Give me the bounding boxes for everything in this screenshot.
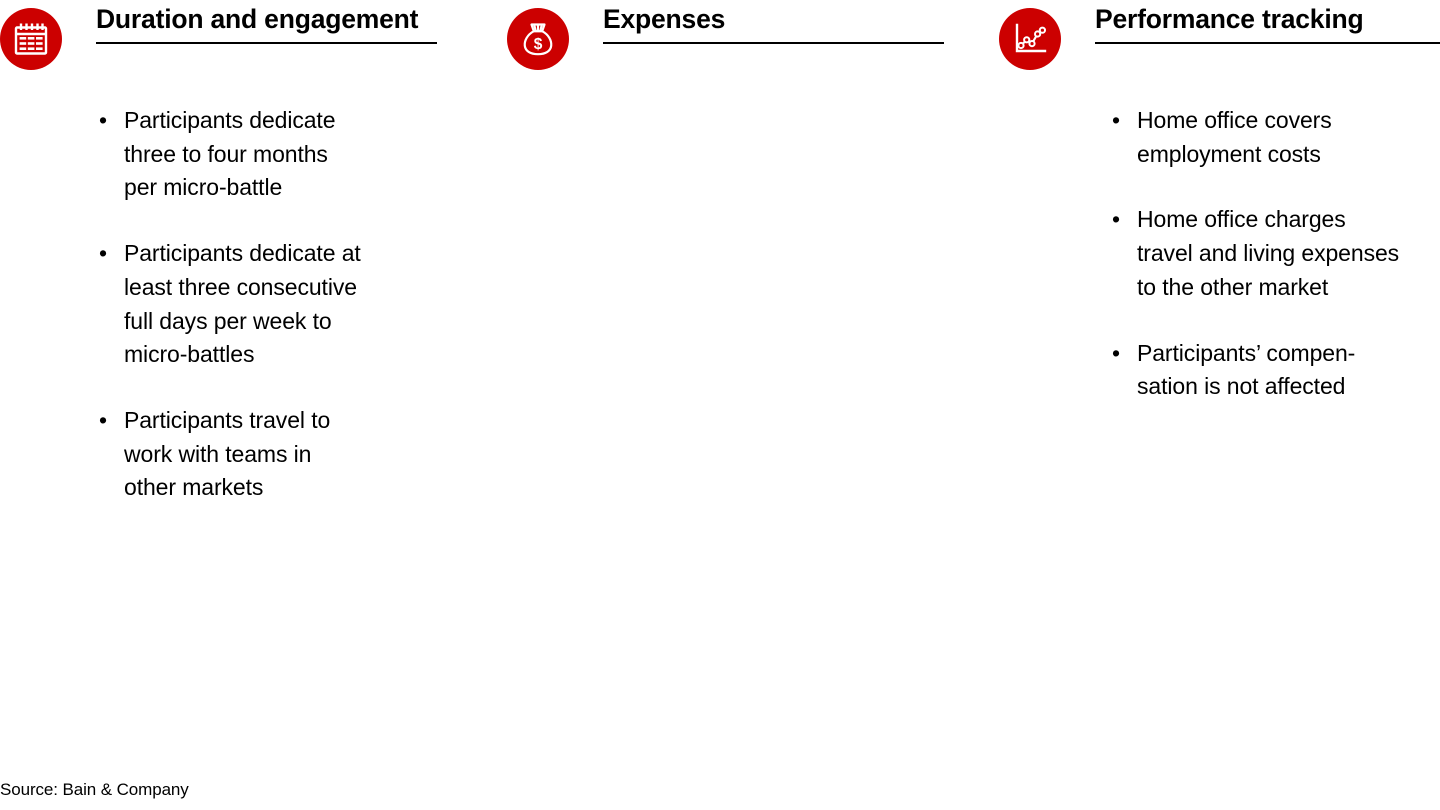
column-title-block: Duration and engagement [96, 4, 437, 44]
column-header: $ Expenses [507, 4, 977, 70]
list-item: • Home office covers employment costs [1105, 104, 1440, 171]
column-title: Expenses [603, 4, 944, 42]
list-item: • Participants dedicate three to four mo… [92, 104, 422, 205]
title-underline-rule [96, 42, 437, 44]
column-duration-and-engagement: Duration and engagement • Participants d… [0, 4, 470, 70]
bullet-marker: • [99, 404, 107, 438]
svg-text:$: $ [534, 36, 543, 53]
list-item-text: Participants dedicate three to four mont… [124, 104, 422, 205]
line-chart-icon [999, 8, 1061, 70]
bullet-marker: • [99, 104, 107, 138]
column-expenses: $ Expenses • Home office covers employme… [507, 4, 977, 70]
list-item-text: Participants’ compen- sation is not affe… [1137, 337, 1440, 404]
column-performance-tracking: Performance tracking • Micro-battles are… [999, 4, 1440, 70]
list-item: • Participants travel to work with teams… [92, 404, 422, 505]
list-item-text: Home office charges travel and living ex… [1137, 203, 1440, 304]
list-item: • Home office charges travel and living … [1105, 203, 1440, 304]
bullet-marker: • [1112, 337, 1120, 371]
bullet-list: • Home office covers employment costs • … [1105, 104, 1440, 404]
column-title: Performance tracking [1095, 4, 1440, 42]
column-header: Duration and engagement [0, 4, 470, 70]
list-item: • Participants’ compen- sation is not af… [1105, 337, 1440, 404]
calendar-icon [0, 8, 62, 70]
column-title-block: Performance tracking [1095, 4, 1440, 44]
bullet-list: • Participants dedicate three to four mo… [92, 104, 422, 505]
bullet-marker: • [1112, 104, 1120, 138]
source-note: Source: Bain & Company [0, 779, 189, 800]
column-title: Duration and engagement [96, 4, 437, 42]
list-item-text: Home office covers employment costs [1137, 104, 1440, 171]
list-item: • Participants dedicate at least three c… [92, 237, 422, 372]
column-title-block: Expenses [603, 4, 944, 44]
list-item-text: Participants travel to work with teams i… [124, 404, 422, 505]
title-underline-rule [1095, 42, 1440, 44]
money-bag-icon: $ [507, 8, 569, 70]
slide-canvas: Duration and engagement • Participants d… [0, 0, 1440, 810]
bullet-marker: • [1112, 203, 1120, 237]
list-item-text: Participants dedicate at least three con… [124, 237, 422, 372]
bullet-marker: • [99, 237, 107, 271]
title-underline-rule [603, 42, 944, 44]
column-header: Performance tracking [999, 4, 1440, 70]
